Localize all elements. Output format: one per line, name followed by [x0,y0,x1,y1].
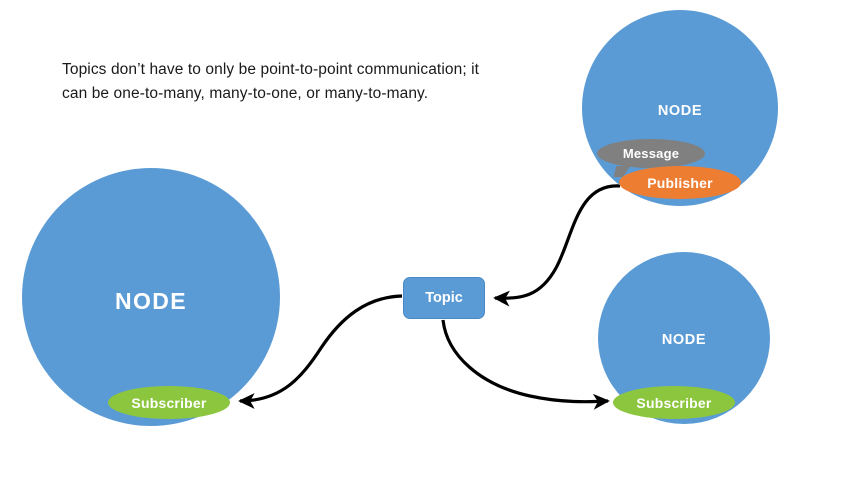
message-callout[interactable]: Message [597,139,705,168]
topic-box[interactable]: Topic [403,277,485,319]
subscriber-left[interactable]: Subscriber [108,386,230,419]
node-left-label: NODE [22,288,280,315]
caption-text: Topics don’t have to only be point-to-po… [62,58,482,106]
publisher[interactable]: Publisher [619,166,741,199]
connector-publisher-to-topic [495,186,620,298]
diagram-canvas: Topics don’t have to only be point-to-po… [0,0,854,480]
node-top-right-label: NODE [582,103,778,119]
subscriber-right[interactable]: Subscriber [613,386,735,419]
connector-topic-to-subscriber-right [443,320,608,402]
node-bottom-right-label: NODE [598,332,770,348]
